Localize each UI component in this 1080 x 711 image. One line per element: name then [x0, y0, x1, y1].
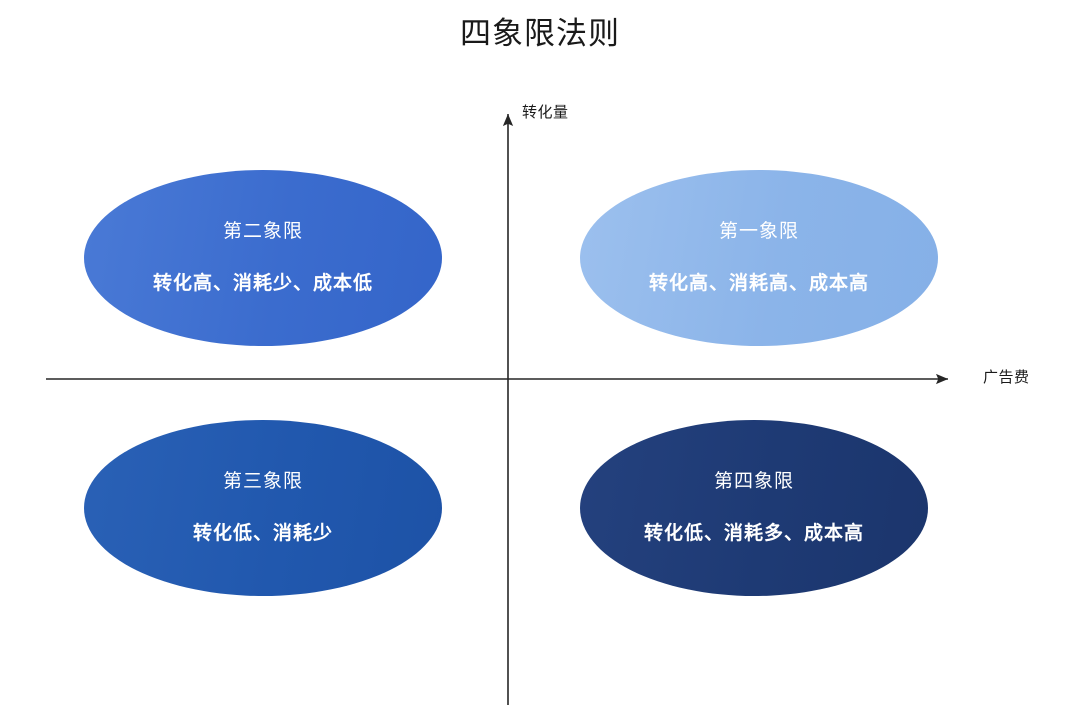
quadrant-four-title: 第四象限 [714, 469, 794, 495]
quadrant-one-description: 转化高、消耗高、成本高 [649, 271, 869, 297]
quadrant-four-description: 转化低、消耗多、成本高 [644, 521, 864, 547]
quadrant-two-description: 转化高、消耗少、成本低 [153, 271, 373, 297]
diagram-canvas: 四象限法则 转化量 广告费 第二象限 转化高、消耗少、成本低 第一象限 转化高、… [0, 0, 1080, 711]
quadrant-two-title: 第二象限 [223, 219, 303, 245]
quadrant-three-ellipse[interactable]: 第三象限 转化低、消耗少 [84, 420, 442, 596]
page-title: 四象限法则 [0, 14, 1080, 54]
x-axis-label: 广告费 [983, 369, 1030, 387]
quadrant-one-ellipse[interactable]: 第一象限 转化高、消耗高、成本高 [580, 170, 938, 346]
quadrant-two-ellipse[interactable]: 第二象限 转化高、消耗少、成本低 [84, 170, 442, 346]
y-axis-label: 转化量 [522, 104, 569, 122]
quadrant-four-ellipse[interactable]: 第四象限 转化低、消耗多、成本高 [580, 420, 928, 596]
quadrant-one-title: 第一象限 [719, 219, 799, 245]
quadrant-three-description: 转化低、消耗少 [193, 521, 333, 547]
quadrant-three-title: 第三象限 [223, 469, 303, 495]
